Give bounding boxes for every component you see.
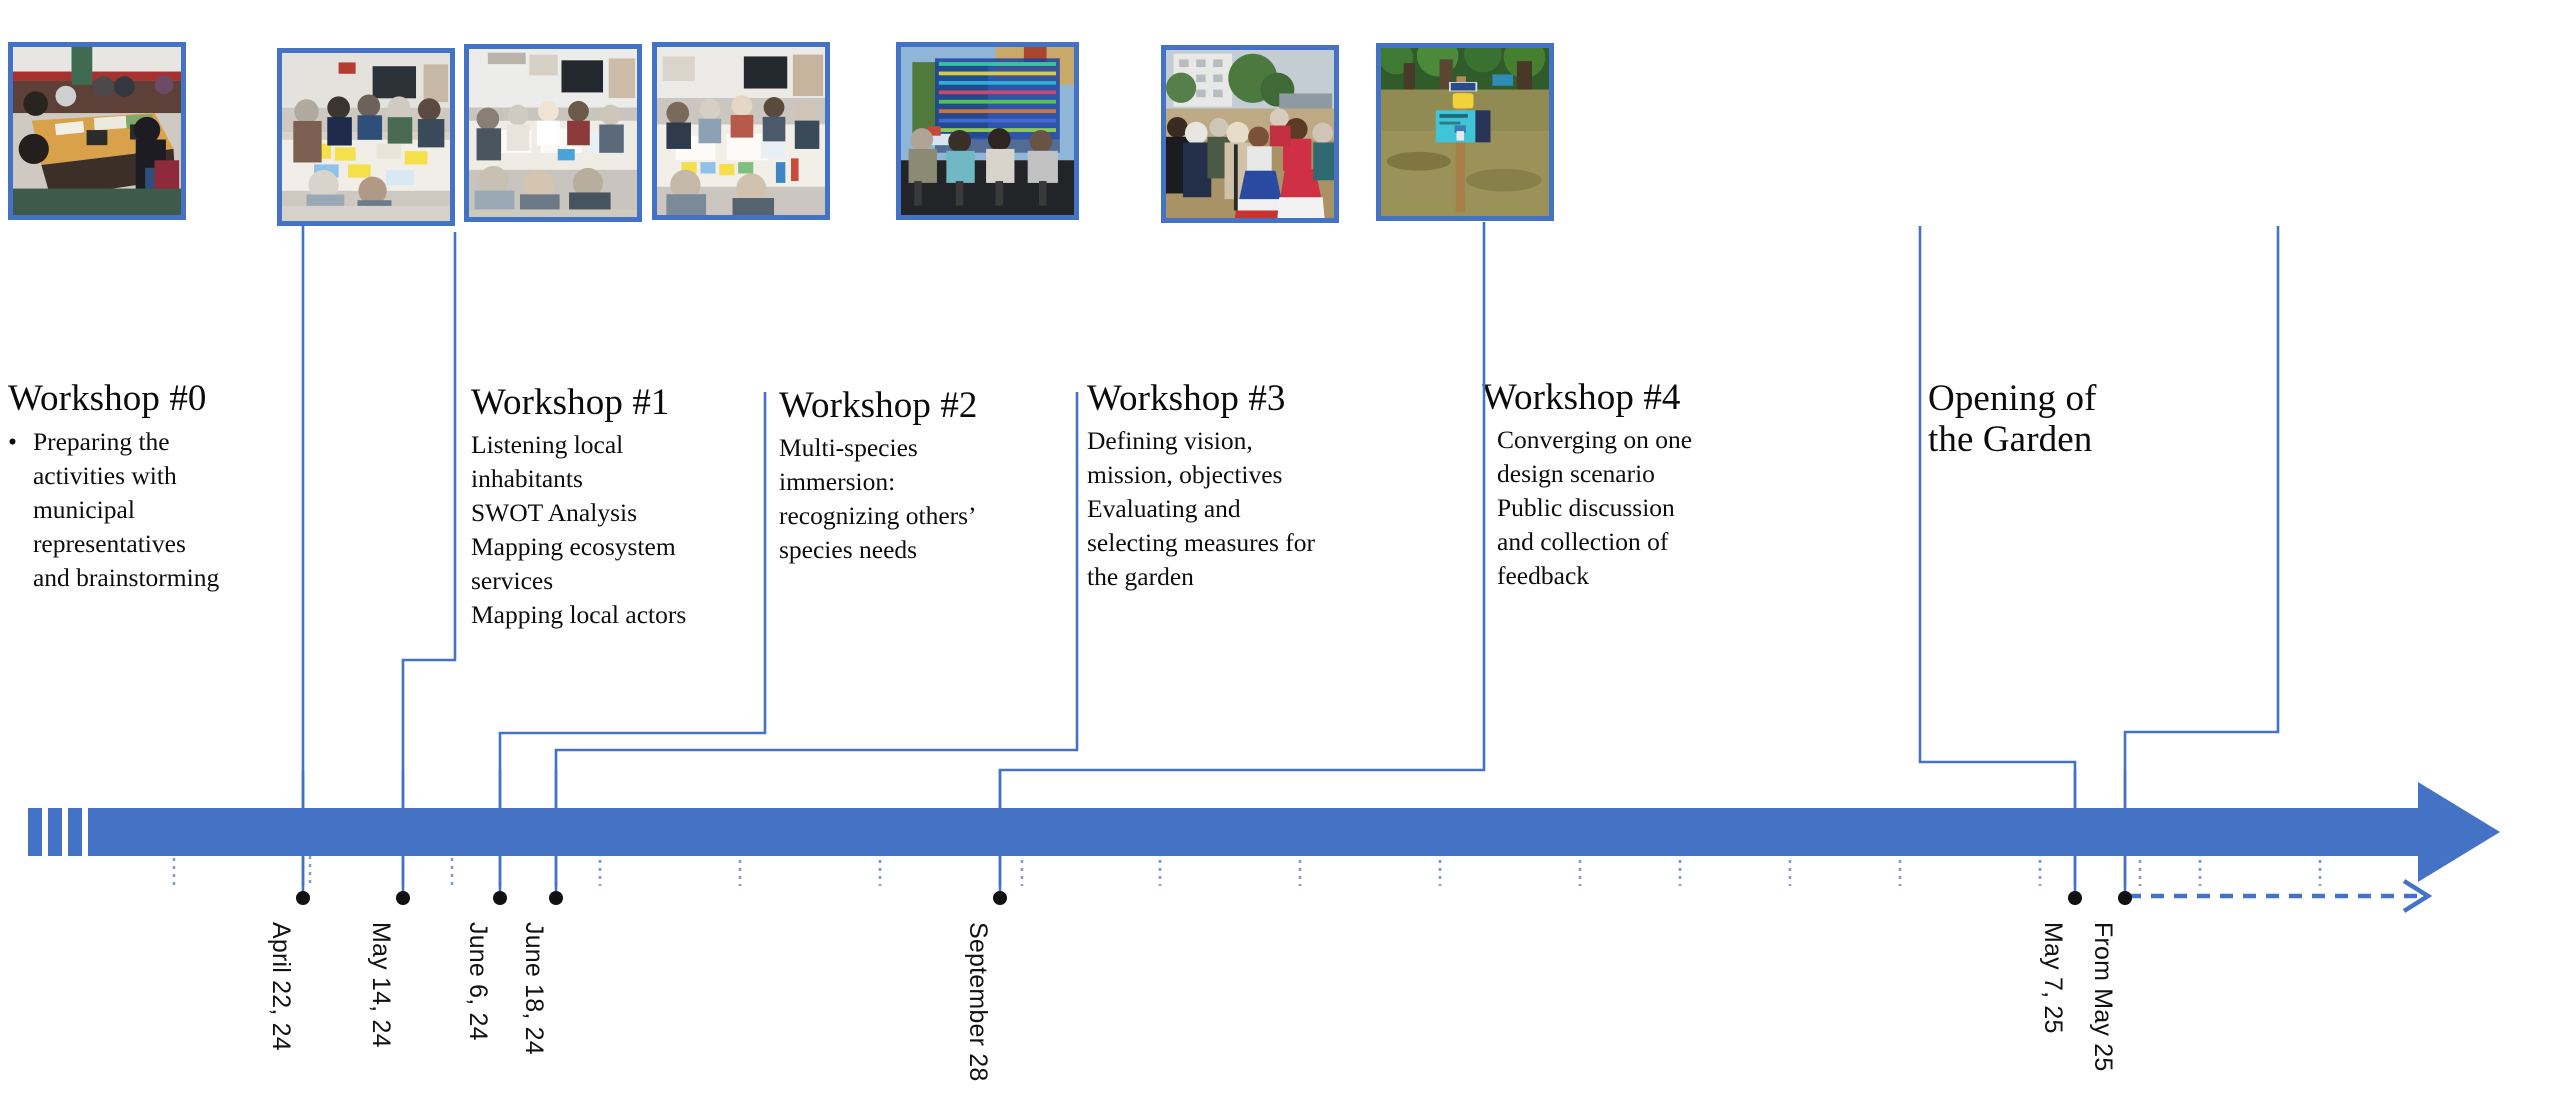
timeline-arrow-icon [2418,782,2500,882]
event-text-workshop-1: Workshop #1 Listening local inhabitants … [471,382,771,632]
photo-garden-sensor[interactable] [1376,43,1554,221]
photo-workshop-1-image [282,53,450,221]
event-body: • Preparing the activities with municipa… [8,425,308,595]
event-title: Workshop #1 [471,382,771,423]
connector-dot-group [296,891,2132,905]
event-body: Multi-species immersion: recognizing oth… [779,431,1069,567]
date-label-september-28: September 28 [963,922,992,1081]
event-title: Workshop #3 [1087,378,1407,419]
connector-monitoring [2125,226,2278,896]
timeline-bar [88,808,2418,856]
photo-workshop-0[interactable] [8,42,186,220]
photo-workshop-0-image [13,47,181,215]
event-text-workshop-2: Workshop #2 Multi-species immersion: rec… [779,385,1069,567]
photo-workshop-2-image [469,49,637,217]
event-title: Workshop #0 [8,378,308,419]
photo-workshop-4[interactable] [896,42,1079,220]
photo-workshop-3-image [657,47,825,215]
photo-garden-opening[interactable] [1161,45,1339,223]
photo-garden-sensor-image [1381,48,1549,216]
connector-garden-opening [1920,226,2075,896]
event-body: Listening local inhabitants SWOT Analysi… [471,428,771,631]
photo-workshop-3[interactable] [652,42,830,220]
date-label-june-18-24: June 18, 24 [519,922,548,1055]
event-text-garden-opening: Opening of the Garden [1928,378,2228,461]
major-tick-group [303,770,2125,886]
event-text-workshop-4: Workshop #4 Converging on one design sce… [1482,377,1782,593]
event-text-workshop-0: Workshop #0 • Preparing the activities w… [8,378,308,595]
photo-workshop-4-image [901,47,1074,215]
date-label-june-6-24: June 6, 24 [463,922,492,1041]
event-body: Defining vision, mission, objectives Eva… [1087,424,1407,594]
minor-tick-group [174,808,2320,886]
photo-garden-opening-image [1166,50,1334,218]
timeline-lead-dashes [28,808,82,856]
event-title: Workshop #4 [1482,377,1782,418]
photo-workshop-2[interactable] [464,44,642,222]
event-title: Opening of the Garden [1928,378,2228,461]
date-label-may-14-24: May 14, 24 [366,922,395,1048]
date-label-may-7-25: May 7, 25 [2038,922,2067,1034]
event-title: Workshop #2 [779,385,1069,426]
photo-workshop-1[interactable] [277,48,455,226]
timeline-infographic: Workshop #0 • Preparing the activities w… [0,0,2560,1101]
date-label-april-22-24: April 22, 24 [266,922,295,1051]
date-label-from-may-25: From May 25 [2088,922,2117,1071]
event-body-text: Preparing the activities with municipal … [33,425,219,595]
ongoing-dashed-arrow-icon [2128,881,2428,911]
connector-workshop-1 [403,232,455,896]
event-body: Converging on one design scenario Public… [1482,423,1782,593]
bullet-icon: • [8,425,17,595]
event-text-workshop-3: Workshop #3 Defining vision, mission, ob… [1087,378,1407,594]
